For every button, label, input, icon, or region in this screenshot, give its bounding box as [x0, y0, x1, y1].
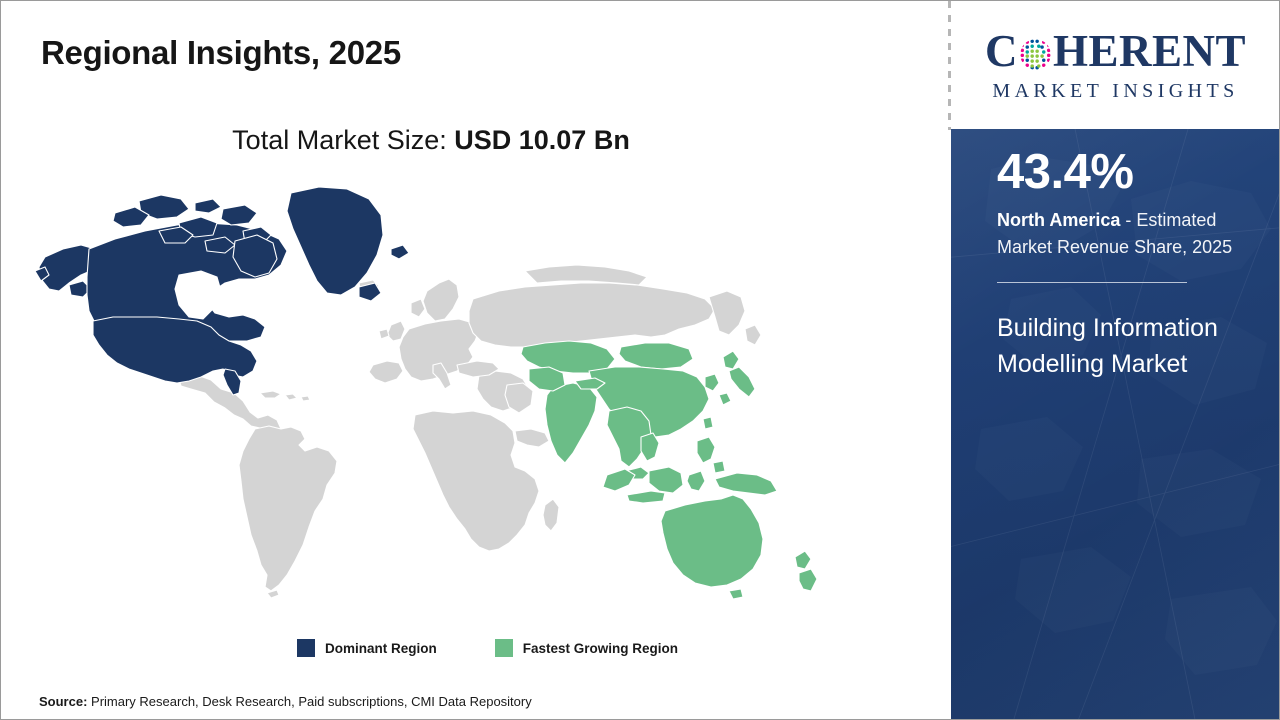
world-map-container	[29, 179, 839, 619]
source-footer: Source: Primary Research, Desk Research,…	[39, 694, 532, 709]
world-map-svg	[29, 179, 839, 619]
coherent-market-insights-logo: C	[968, 29, 1264, 101]
source-text: Primary Research, Desk Research, Paid su…	[87, 694, 531, 709]
market-share-value: 43.4%	[997, 147, 1259, 198]
market-share-description: North America - Estimated Market Revenue…	[997, 207, 1255, 260]
logo-tagline: MARKET INSIGHTS	[968, 81, 1264, 101]
panel-content: 43.4% North America - Estimated Market R…	[997, 147, 1259, 383]
source-label: Source:	[39, 694, 87, 709]
legend-label-dominant: Dominant Region	[325, 641, 437, 656]
legend-label-fastest-growing: Fastest Growing Region	[523, 641, 678, 656]
page-title: Regional Insights, 2025	[41, 34, 401, 72]
map-legend: Dominant Region Fastest Growing Region	[297, 639, 678, 657]
logo-letter-c: C	[985, 29, 1018, 74]
logo-wordmark: C	[968, 29, 1264, 74]
square-swatch-icon	[297, 639, 315, 657]
brand-logo-container: C	[951, 1, 1280, 129]
total-market-size-label: Total Market Size:	[232, 125, 454, 155]
market-share-region: North America	[997, 210, 1120, 230]
total-market-size-value: USD 10.07 Bn	[454, 125, 630, 155]
market-name: Building Information Modelling Market	[997, 311, 1237, 383]
total-market-size: Total Market Size: USD 10.07 Bn	[1, 125, 861, 156]
map-region-dominant	[35, 187, 409, 395]
legend-item-dominant: Dominant Region	[297, 639, 437, 657]
infographic-canvas: Regional Insights, 2025 Total Market Siz…	[0, 0, 1280, 720]
square-swatch-icon	[495, 639, 513, 657]
dotted-globe-icon	[1019, 34, 1052, 67]
map-region-fastest-growing	[521, 341, 817, 599]
main-content-area: Regional Insights, 2025 Total Market Siz…	[1, 1, 949, 719]
panel-divider-rule	[997, 282, 1187, 283]
logo-letters-herent: HERENT	[1053, 29, 1246, 74]
regional-highlight-panel: 43.4% North America - Estimated Market R…	[951, 129, 1280, 719]
legend-item-fastest-growing: Fastest Growing Region	[495, 639, 678, 657]
